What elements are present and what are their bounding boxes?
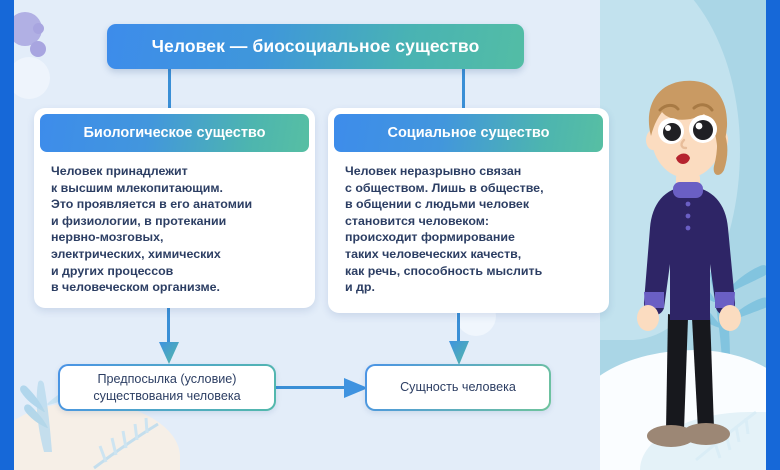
arrow-down-left: [156, 308, 182, 366]
decor-circle-medium: [30, 41, 46, 57]
right-edge-bar: [766, 0, 780, 470]
left-edge-bar: [0, 0, 14, 470]
card-social-header: Социальное существо: [334, 114, 603, 152]
fern-icon: [88, 412, 166, 470]
card-biological-body: Человек принадлежит к высшим млекопитающ…: [40, 152, 309, 302]
card-social: Социальное существо Человек неразрывно с…: [328, 108, 609, 313]
main-title-text: Человек — биосоциальное существо: [152, 36, 480, 57]
decor-circle-small: [33, 23, 44, 34]
arrow-right-between-outcomes: [276, 377, 368, 399]
infographic-canvas: Человек — биосоциальное существо Биологи…: [0, 0, 780, 470]
card-social-body: Человек неразрывно связан с обществом. Л…: [334, 152, 603, 302]
arrow-down-right: [446, 313, 472, 367]
outcome-box-precondition: Предпосылка (условие) существования чело…: [58, 364, 276, 411]
card-biological: Биологическое существо Человек принадлеж…: [34, 108, 315, 308]
illustration-panel: [600, 0, 766, 470]
main-title-banner: Человек — биосоциальное существо: [107, 24, 524, 69]
outcome-box-precondition-text: Предпосылка (условие) существования чело…: [60, 366, 274, 409]
boy-character-illustration: [618, 78, 758, 470]
outcome-box-essence-text: Сущность человека: [367, 366, 549, 409]
card-biological-heading-text: Биологическое существо: [83, 125, 265, 141]
connector-title-to-right: [462, 69, 465, 108]
card-biological-header: Биологическое существо: [40, 114, 309, 152]
card-social-heading-text: Социальное существо: [387, 125, 549, 141]
outcome-box-essence: Сущность человека: [365, 364, 551, 411]
connector-title-to-left: [168, 69, 171, 108]
decor-circle-pale: [8, 57, 50, 99]
